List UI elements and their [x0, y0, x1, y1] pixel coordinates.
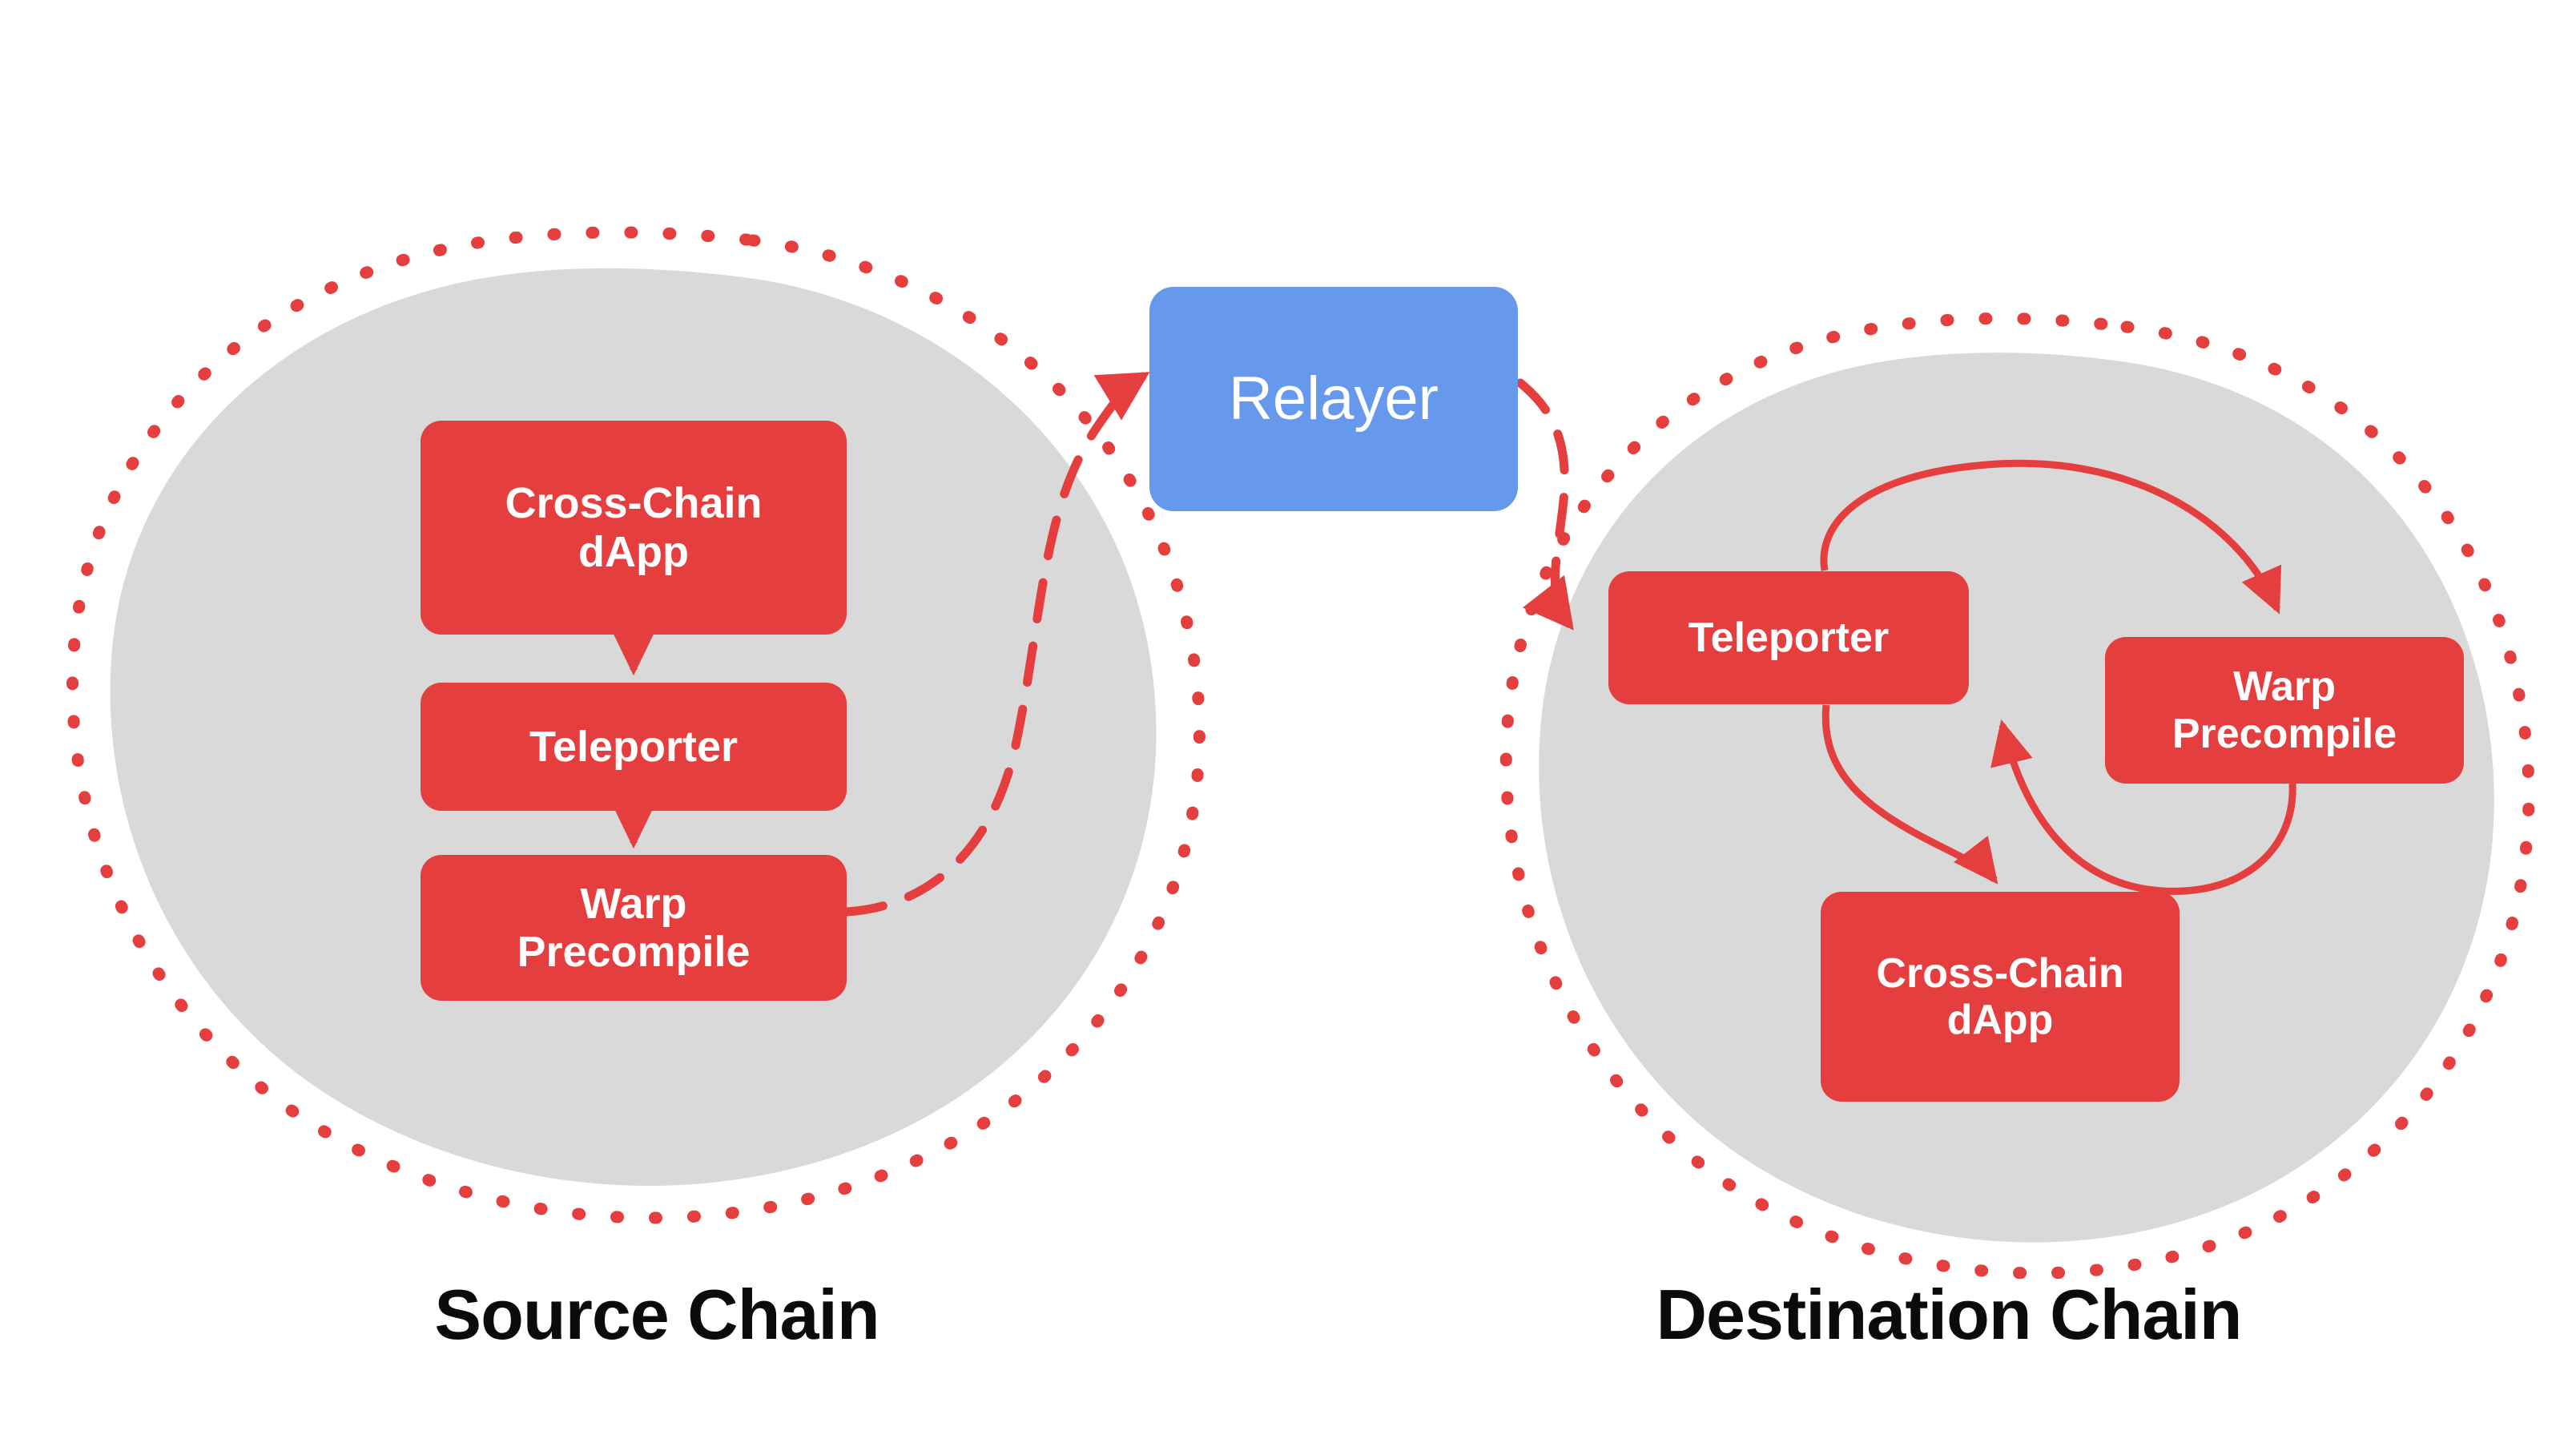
node-relayer[interactable]: Relayer: [1149, 287, 1518, 511]
node-destination-warp-precompile-label: WarpPrecompile: [2172, 663, 2397, 756]
node-destination-cross-chain-dapp[interactable]: Cross-ChaindApp: [1821, 892, 2180, 1102]
destination-chain-region-fill: [1539, 353, 2494, 1243]
node-destination-cross-chain-dapp-label: Cross-ChaindApp: [1876, 950, 2123, 1043]
destination-chain-label: Destination Chain: [1322, 1274, 2576, 1356]
source-chain-label: Source Chain: [0, 1274, 1314, 1356]
node-destination-warp-precompile[interactable]: WarpPrecompile: [2105, 637, 2464, 784]
node-source-teleporter[interactable]: Teleporter: [421, 683, 847, 811]
edge-relayer-to-destination-teleporter: [1520, 383, 1568, 623]
node-destination-teleporter[interactable]: Teleporter: [1608, 571, 1969, 704]
node-source-warp-precompile-label: WarpPrecompile: [517, 880, 750, 977]
node-source-teleporter-label: Teleporter: [529, 723, 738, 771]
diagram-canvas: Cross-ChaindApp Teleporter WarpPrecompil…: [0, 0, 2576, 1447]
node-source-warp-precompile[interactable]: WarpPrecompile: [421, 855, 847, 1001]
node-source-cross-chain-dapp-label: Cross-ChaindApp: [505, 479, 762, 576]
node-source-cross-chain-dapp[interactable]: Cross-ChaindApp: [421, 421, 847, 635]
node-relayer-label: Relayer: [1229, 365, 1439, 433]
node-destination-teleporter-label: Teleporter: [1688, 615, 1889, 661]
